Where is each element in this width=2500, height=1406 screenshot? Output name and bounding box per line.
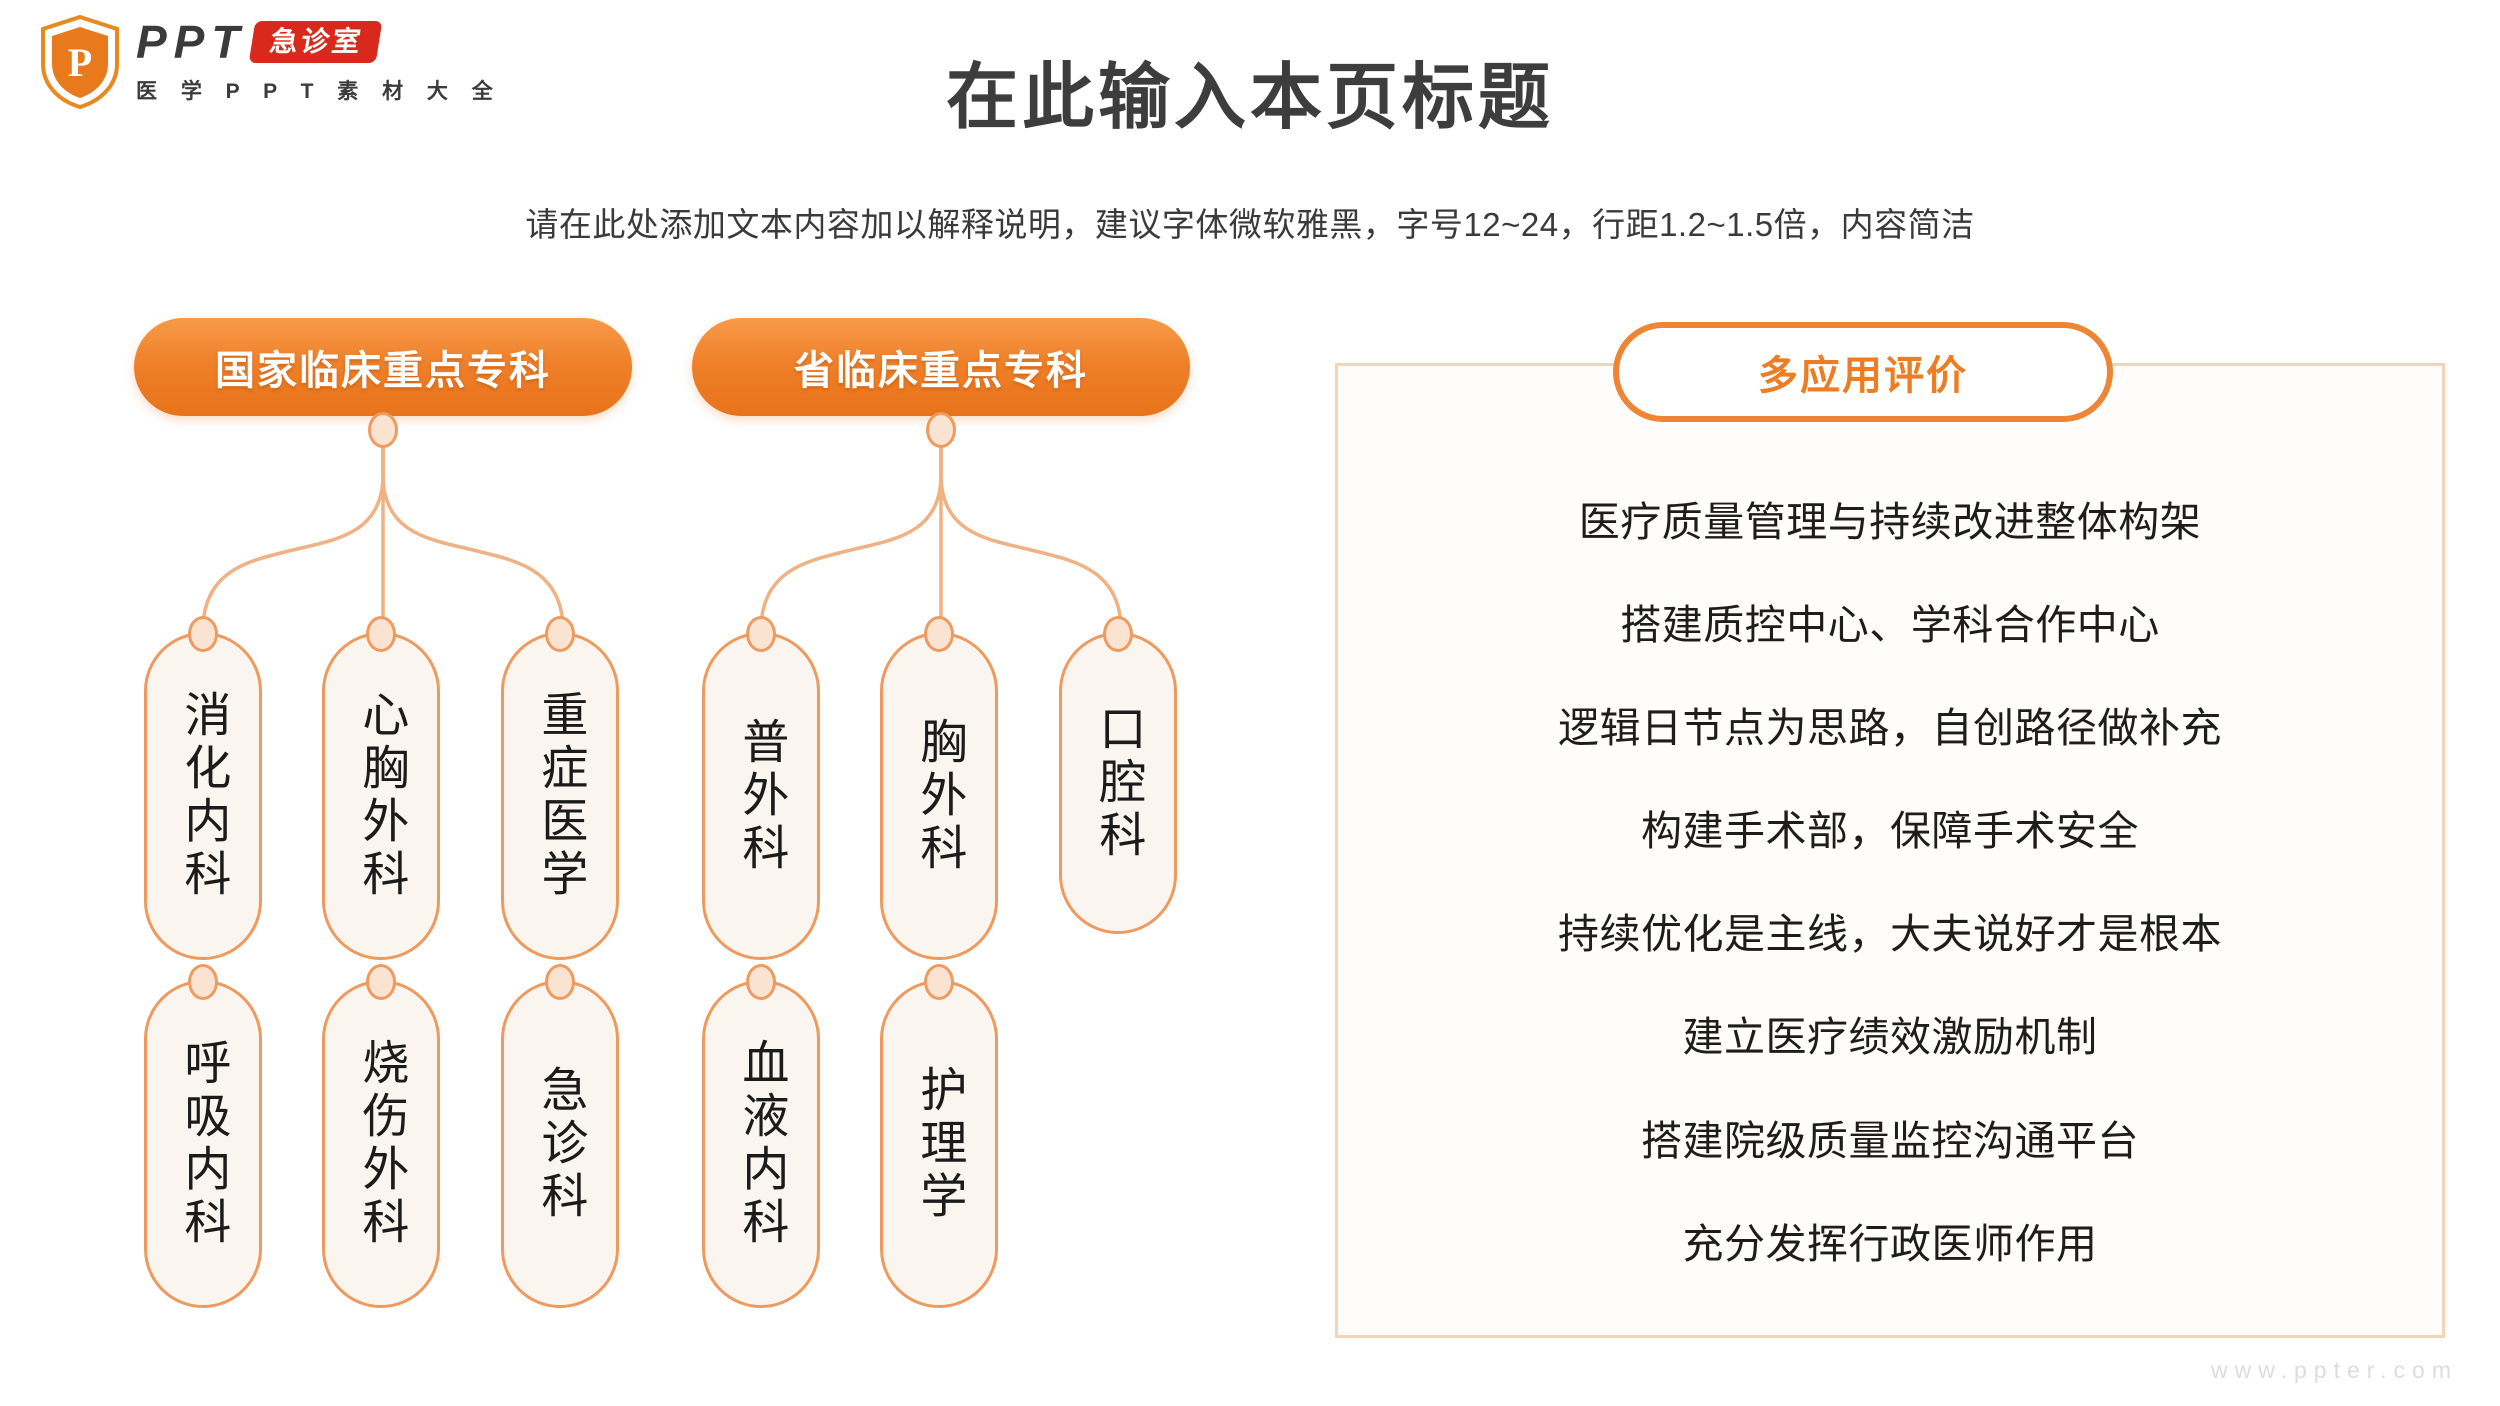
page-subtitle: 请在此处添加文本内容加以解释说明，建议字体微软雅黑，字号12~24，行距1.2~…: [0, 198, 2500, 246]
connector-dot-pill: [366, 616, 396, 652]
specialty-label: 普外科: [735, 717, 788, 876]
evaluation-list: 医疗质量管理与持续改进整体构架 搭建质控中心、学科合作中心 逻辑日节点为思路，自…: [1335, 500, 2445, 1325]
list-item: 充分发挥行政医师作用: [1335, 1222, 2445, 1267]
list-item: 搭建院级质量监控沟通平台: [1335, 1119, 2445, 1164]
specialty-pill[interactable]: 急诊科: [501, 980, 619, 1308]
specialty-label: 急诊科: [534, 1065, 587, 1224]
slide-canvas: P PPT 急诊室 医 学 P P T 素 材 大 全 在此输入本页标题 请在此…: [0, 0, 2500, 1406]
specialty-pill[interactable]: 普外科: [702, 632, 820, 960]
specialty-pill[interactable]: 胸外科: [880, 632, 998, 960]
connector-dot-pill: [366, 964, 396, 1000]
specialty-pill[interactable]: 护理学: [880, 980, 998, 1308]
connector-dot-pill: [188, 616, 218, 652]
connector-dot-pill: [545, 616, 575, 652]
specialty-pill[interactable]: 烧伤外科: [322, 980, 440, 1308]
evaluation-title-pill[interactable]: 多应用评价: [1613, 322, 2113, 422]
specialty-label: 呼吸内科: [177, 1038, 230, 1250]
specialty-pill[interactable]: 呼吸内科: [144, 980, 262, 1308]
site-watermark: www.ppter.com: [2211, 1357, 2458, 1384]
specialty-label: 消化内科: [177, 690, 230, 902]
specialty-label: 血液内科: [735, 1038, 788, 1250]
connector-dot-pill: [1103, 616, 1133, 652]
list-item: 建立医疗绩效激励机制: [1335, 1015, 2445, 1060]
specialty-label: 重症医学: [534, 690, 587, 902]
list-item: 医疗质量管理与持续改进整体构架: [1335, 500, 2445, 545]
specialty-diagram: 国家临床重点专科 省临床重点专科 消化内科 心胸外科 重症医学 呼吸内科 烧伤外…: [0, 300, 1280, 1350]
specialty-pill[interactable]: 重症医学: [501, 632, 619, 960]
specialty-pill[interactable]: 心胸外科: [322, 632, 440, 960]
connector-dot-pill: [746, 616, 776, 652]
connector-dot-pill: [545, 964, 575, 1000]
specialty-label: 护理学: [913, 1065, 966, 1224]
connector-dot-pill: [188, 964, 218, 1000]
specialty-pill[interactable]: 血液内科: [702, 980, 820, 1308]
specialty-label: 口腔科: [1092, 704, 1145, 863]
specialty-pill[interactable]: 口腔科: [1059, 632, 1177, 934]
specialty-label: 胸外科: [913, 717, 966, 876]
page-title: 在此输入本页标题: [0, 38, 2500, 143]
connector-dot-head-1: [368, 412, 398, 448]
list-item: 构建手术部，保障手术安全: [1335, 809, 2445, 854]
specialty-label: 心胸外科: [355, 690, 408, 902]
list-item: 逻辑日节点为思路，自创路径做补充: [1335, 706, 2445, 751]
connector-dot-head-2: [926, 412, 956, 448]
specialty-pill[interactable]: 消化内科: [144, 632, 262, 960]
connector-dot-pill: [924, 964, 954, 1000]
specialty-label: 烧伤外科: [355, 1038, 408, 1250]
list-item: 搭建质控中心、学科合作中心: [1335, 603, 2445, 648]
group-header-provincial[interactable]: 省临床重点专科: [692, 318, 1190, 416]
connector-dot-pill: [746, 964, 776, 1000]
connector-dot-pill: [924, 616, 954, 652]
list-item: 持续优化是主线，大夫说好才是根本: [1335, 912, 2445, 957]
group-header-national[interactable]: 国家临床重点专科: [134, 318, 632, 416]
